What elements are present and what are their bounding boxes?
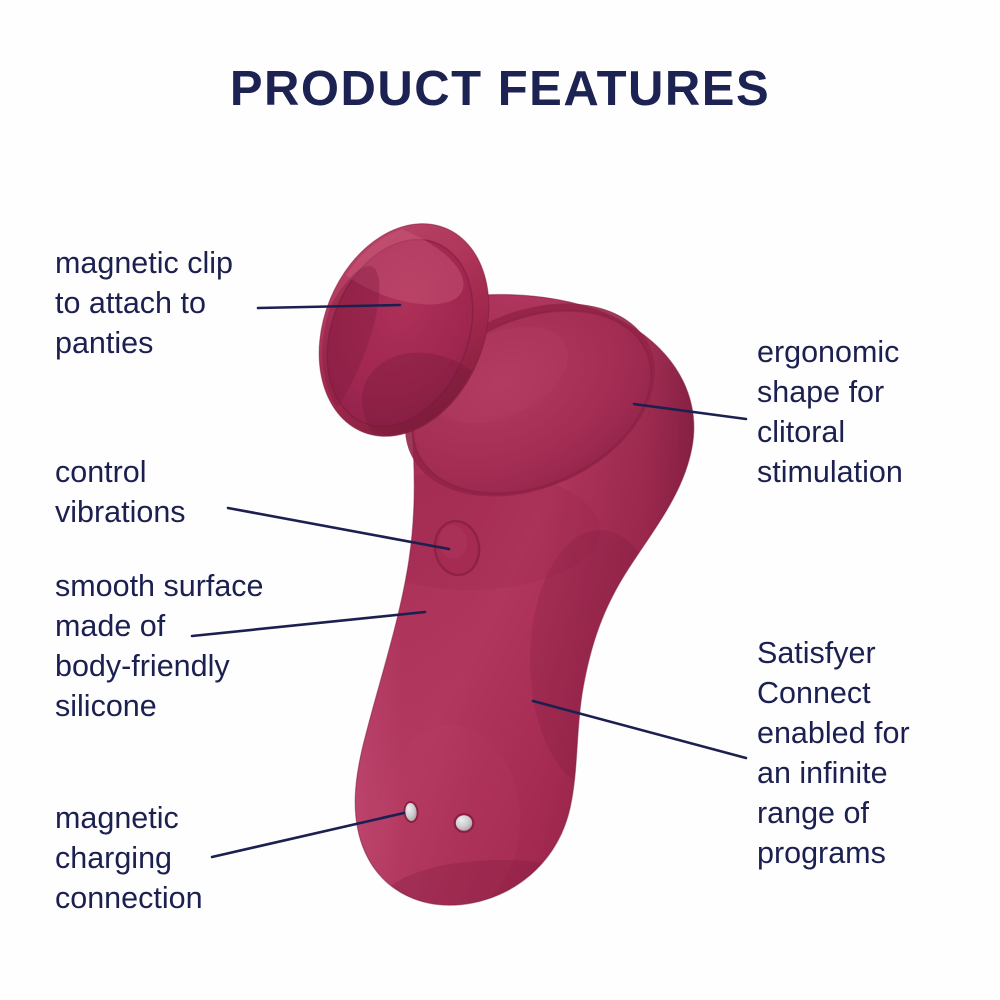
callout-ergonomic-shape: ergonomic shape for clitoral stimulation	[757, 332, 903, 492]
main-body	[340, 260, 705, 950]
callout-line: an infinite	[757, 753, 910, 793]
callout-line: vibrations	[55, 492, 186, 532]
callout-line: stimulation	[757, 452, 903, 492]
callout-satisfyer-connect: Satisfyer Connect enabled for an infinit…	[757, 633, 910, 873]
callout-line: clitoral	[757, 412, 903, 452]
callout-line: ergonomic	[757, 332, 903, 372]
callout-line: enabled for	[757, 713, 910, 753]
clitoral-pad	[375, 266, 686, 533]
callout-smooth-surface: smooth surface made of body-friendly sil…	[55, 566, 264, 726]
leader-line-control-vibrations	[228, 508, 449, 549]
callout-line: control	[55, 452, 186, 492]
callout-line: Connect	[757, 673, 910, 713]
control-button[interactable]	[431, 518, 482, 578]
callout-line: to attach to	[55, 283, 233, 323]
charging-contact-1	[402, 800, 419, 823]
leader-line-magnetic-charging	[212, 813, 404, 857]
callout-line: Satisfyer	[757, 633, 910, 673]
product-features-infographic: PRODUCT FEATURES	[0, 0, 1000, 1000]
leader-line-satisfyer-connect	[533, 701, 746, 758]
magnetic-clip	[280, 198, 519, 487]
leader-line-magnetic-clip	[258, 305, 400, 308]
callout-line: charging	[55, 838, 203, 878]
callout-control-vibrations: control vibrations	[55, 452, 186, 532]
callout-line: shape for	[757, 372, 903, 412]
callout-magnetic-clip: magnetic clip to attach to panties	[55, 243, 233, 363]
callout-line: made of	[55, 606, 264, 646]
callout-line: connection	[55, 878, 203, 918]
callout-line: range of	[757, 793, 910, 833]
callout-line: panties	[55, 323, 233, 363]
charging-contact-2	[454, 813, 475, 833]
page-title: PRODUCT FEATURES	[0, 61, 1000, 117]
callout-line: smooth surface	[55, 566, 264, 606]
callout-line: programs	[757, 833, 910, 873]
callout-line: silicone	[55, 686, 264, 726]
callout-line: body-friendly	[55, 646, 264, 686]
callout-line: magnetic	[55, 798, 203, 838]
callout-line: magnetic clip	[55, 243, 233, 283]
callout-magnetic-charging-connection: magnetic charging connection	[55, 798, 203, 918]
leader-line-ergonomic-shape	[634, 404, 746, 419]
